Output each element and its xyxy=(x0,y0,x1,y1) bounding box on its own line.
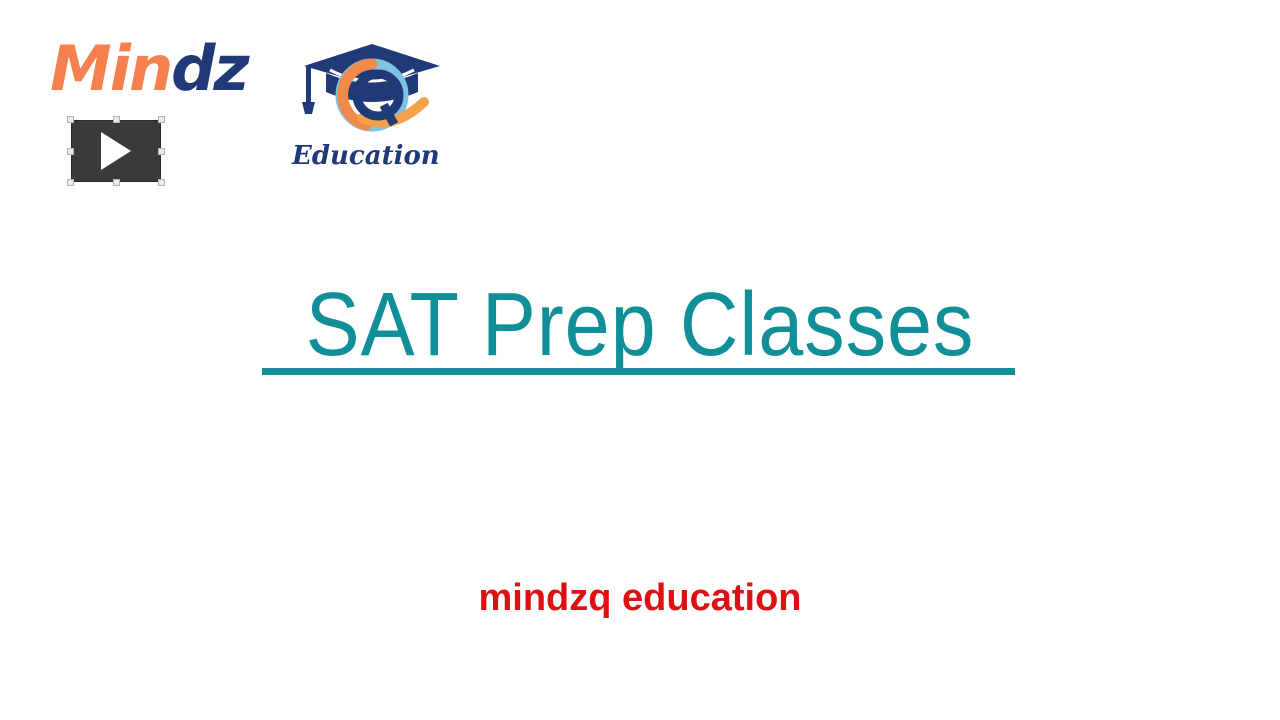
resize-handle-middle-right[interactable] xyxy=(158,148,165,155)
resize-handle-top-left[interactable] xyxy=(67,116,74,123)
page-title-link[interactable]: SAT Prep Classes xyxy=(64,278,1216,373)
resize-handle-top-center[interactable] xyxy=(113,116,120,123)
play-icon[interactable] xyxy=(101,132,131,170)
logo-word-min: Min xyxy=(50,32,171,105)
resize-handle-bottom-center[interactable] xyxy=(113,179,120,186)
page-title-underline xyxy=(262,368,1015,375)
logo-word-dz: dz xyxy=(171,32,247,105)
logo-letter-i xyxy=(302,66,315,114)
subtitle-text: mindzq education xyxy=(0,578,1280,620)
video-placeholder[interactable] xyxy=(68,117,164,185)
resize-handle-bottom-right[interactable] xyxy=(158,179,165,186)
resize-handle-top-right[interactable] xyxy=(158,116,165,123)
resize-handle-bottom-left[interactable] xyxy=(67,179,74,186)
resize-handle-middle-left[interactable] xyxy=(67,148,74,155)
logo-wordmark: Mindz xyxy=(50,38,248,100)
video-frame[interactable] xyxy=(71,120,161,182)
slide-canvas: Mindz xyxy=(0,0,1280,720)
logo-iq-mark xyxy=(300,40,450,135)
logo-tagline: Education xyxy=(292,143,440,169)
